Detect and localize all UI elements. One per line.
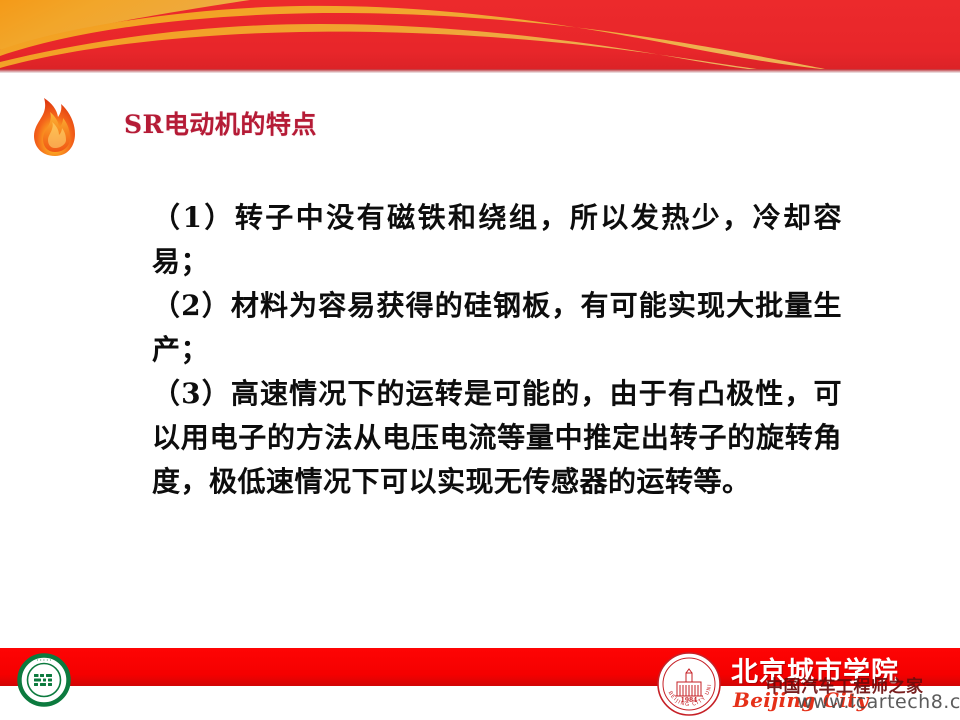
flame-icon: [28, 96, 82, 158]
page-title: SR电动机的特点: [124, 105, 317, 141]
slide-body-text: （1）转子中没有磁铁和绕组，所以发热少，冷却容易； （2）材料为容易获得的硅钢板…: [152, 196, 842, 504]
svg-text:• • • • •: • • • • •: [36, 659, 51, 663]
body-paragraph-2: （2）材料为容易获得的硅钢板，有可能实现大批量生产；: [152, 284, 842, 372]
header-wave-graphic: [0, 0, 960, 73]
body-paragraph-1: （1）转子中没有磁铁和绕组，所以发热少，冷却容易；: [152, 196, 842, 284]
header-banner: [0, 0, 960, 73]
watermark-url: www.icartech8.com: [797, 691, 960, 713]
title-row: SR电动机的特点: [0, 96, 700, 162]
university-seal-icon: 1984 BEIJING CITY UNIVERSITY: [653, 648, 725, 720]
body-paragraph-3: （3）高速情况下的运转是可能的，由于有凸极性，可以用电子的方法从电压电流等量中推…: [152, 372, 842, 504]
green-seal-icon: • • • • •: [16, 652, 72, 708]
header-underline: [0, 69, 960, 73]
presentation-slide: SR电动机的特点 （1）转子中没有磁铁和绕组，所以发热少，冷却容易； （2）材料…: [0, 0, 960, 720]
